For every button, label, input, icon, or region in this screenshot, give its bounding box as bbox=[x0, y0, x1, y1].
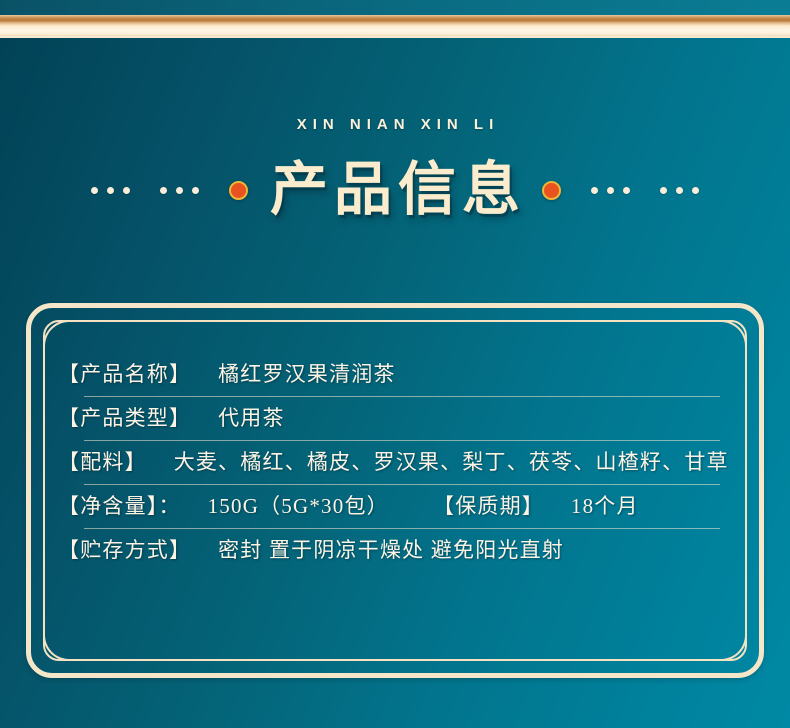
small-dot-icon bbox=[160, 187, 167, 194]
dot-group-inner-right bbox=[591, 187, 630, 194]
ornament-spacer bbox=[139, 190, 151, 191]
info-label-product-name: 【产品名称】 bbox=[58, 362, 191, 386]
top-gold-divider-band bbox=[0, 15, 790, 36]
info-row-product-type: 【产品类型】 代用茶 bbox=[58, 396, 730, 440]
top-teal-band bbox=[0, 0, 790, 15]
product-info-page: XIN NIAN XIN LI 产品信息 bbox=[0, 0, 790, 728]
small-dot-icon bbox=[660, 187, 667, 194]
corner-ornament-top-right bbox=[715, 320, 747, 352]
pinyin-subtitle: XIN NIAN XIN LI bbox=[0, 110, 790, 140]
info-value-ingredients: 大麦、橘红、橘皮、罗汉果、梨丁、茯苓、山楂籽、甘草 bbox=[174, 450, 729, 474]
product-info-list: 【产品名称】 橘红罗汉果清润茶 【产品类型】 代用茶 【配料】 大麦、橘红、橘皮… bbox=[58, 352, 730, 572]
net-content-group: 【净含量】： 150G（5G*30包） bbox=[58, 485, 433, 528]
info-row-product-name: 【产品名称】 橘红罗汉果清润茶 bbox=[58, 352, 730, 396]
ornament-spacer bbox=[570, 190, 582, 191]
small-dot-icon bbox=[692, 187, 699, 194]
right-ornament bbox=[542, 181, 699, 200]
info-label-storage: 【贮存方式】 bbox=[58, 538, 191, 562]
info-value-shelf-life: 18个月 bbox=[571, 494, 639, 518]
small-dot-icon bbox=[107, 187, 114, 194]
large-orange-dot-icon bbox=[229, 181, 248, 200]
small-dot-icon bbox=[91, 187, 98, 194]
info-value-net-content: 150G（5G*30包） bbox=[208, 494, 389, 518]
corner-ornament-top-left bbox=[43, 320, 75, 352]
info-label-shelf-life: 【保质期】 bbox=[433, 494, 544, 518]
small-dot-icon bbox=[623, 187, 630, 194]
shelf-life-group: 【保质期】 18个月 bbox=[433, 485, 730, 528]
page-title: 产品信息 bbox=[264, 155, 526, 225]
info-label-product-type: 【产品类型】 bbox=[58, 406, 191, 430]
row-divider bbox=[84, 440, 720, 441]
row-divider bbox=[84, 528, 720, 529]
small-dot-icon bbox=[591, 187, 598, 194]
row-divider bbox=[84, 484, 720, 485]
info-row-ingredients: 【配料】 大麦、橘红、橘皮、罗汉果、梨丁、茯苓、山楂籽、甘草 bbox=[58, 440, 730, 484]
corner-ornament-bottom-right bbox=[715, 629, 747, 661]
ornament-spacer bbox=[208, 190, 220, 191]
small-dot-icon bbox=[192, 187, 199, 194]
small-dot-icon bbox=[607, 187, 614, 194]
info-row-storage: 【贮存方式】 密封 置于阴凉干燥处 避免阳光直射 bbox=[58, 528, 730, 572]
info-value-storage: 密封 置于阴凉干燥处 避免阳光直射 bbox=[218, 538, 564, 562]
left-ornament bbox=[91, 181, 248, 200]
info-label-net-content: 【净含量】： bbox=[58, 494, 181, 518]
title-row: 产品信息 bbox=[0, 152, 790, 228]
info-label-ingredients: 【配料】 bbox=[58, 450, 147, 474]
page-header: XIN NIAN XIN LI 产品信息 bbox=[0, 110, 790, 228]
dot-group-outer-left bbox=[91, 187, 130, 194]
small-dot-icon bbox=[123, 187, 130, 194]
info-row-net-content: 【净含量】： 150G（5G*30包） 【保质期】 18个月 bbox=[58, 484, 730, 528]
small-dot-icon bbox=[176, 187, 183, 194]
corner-ornament-bottom-left bbox=[43, 629, 75, 661]
info-value-product-type: 代用茶 bbox=[218, 406, 285, 430]
large-orange-dot-icon bbox=[542, 181, 561, 200]
dot-group-inner-left bbox=[160, 187, 199, 194]
info-value-product-name: 橘红罗汉果清润茶 bbox=[218, 362, 396, 386]
dot-group-outer-right bbox=[660, 187, 699, 194]
small-dot-icon bbox=[676, 187, 683, 194]
row-divider bbox=[84, 396, 720, 397]
ornament-spacer bbox=[639, 190, 651, 191]
